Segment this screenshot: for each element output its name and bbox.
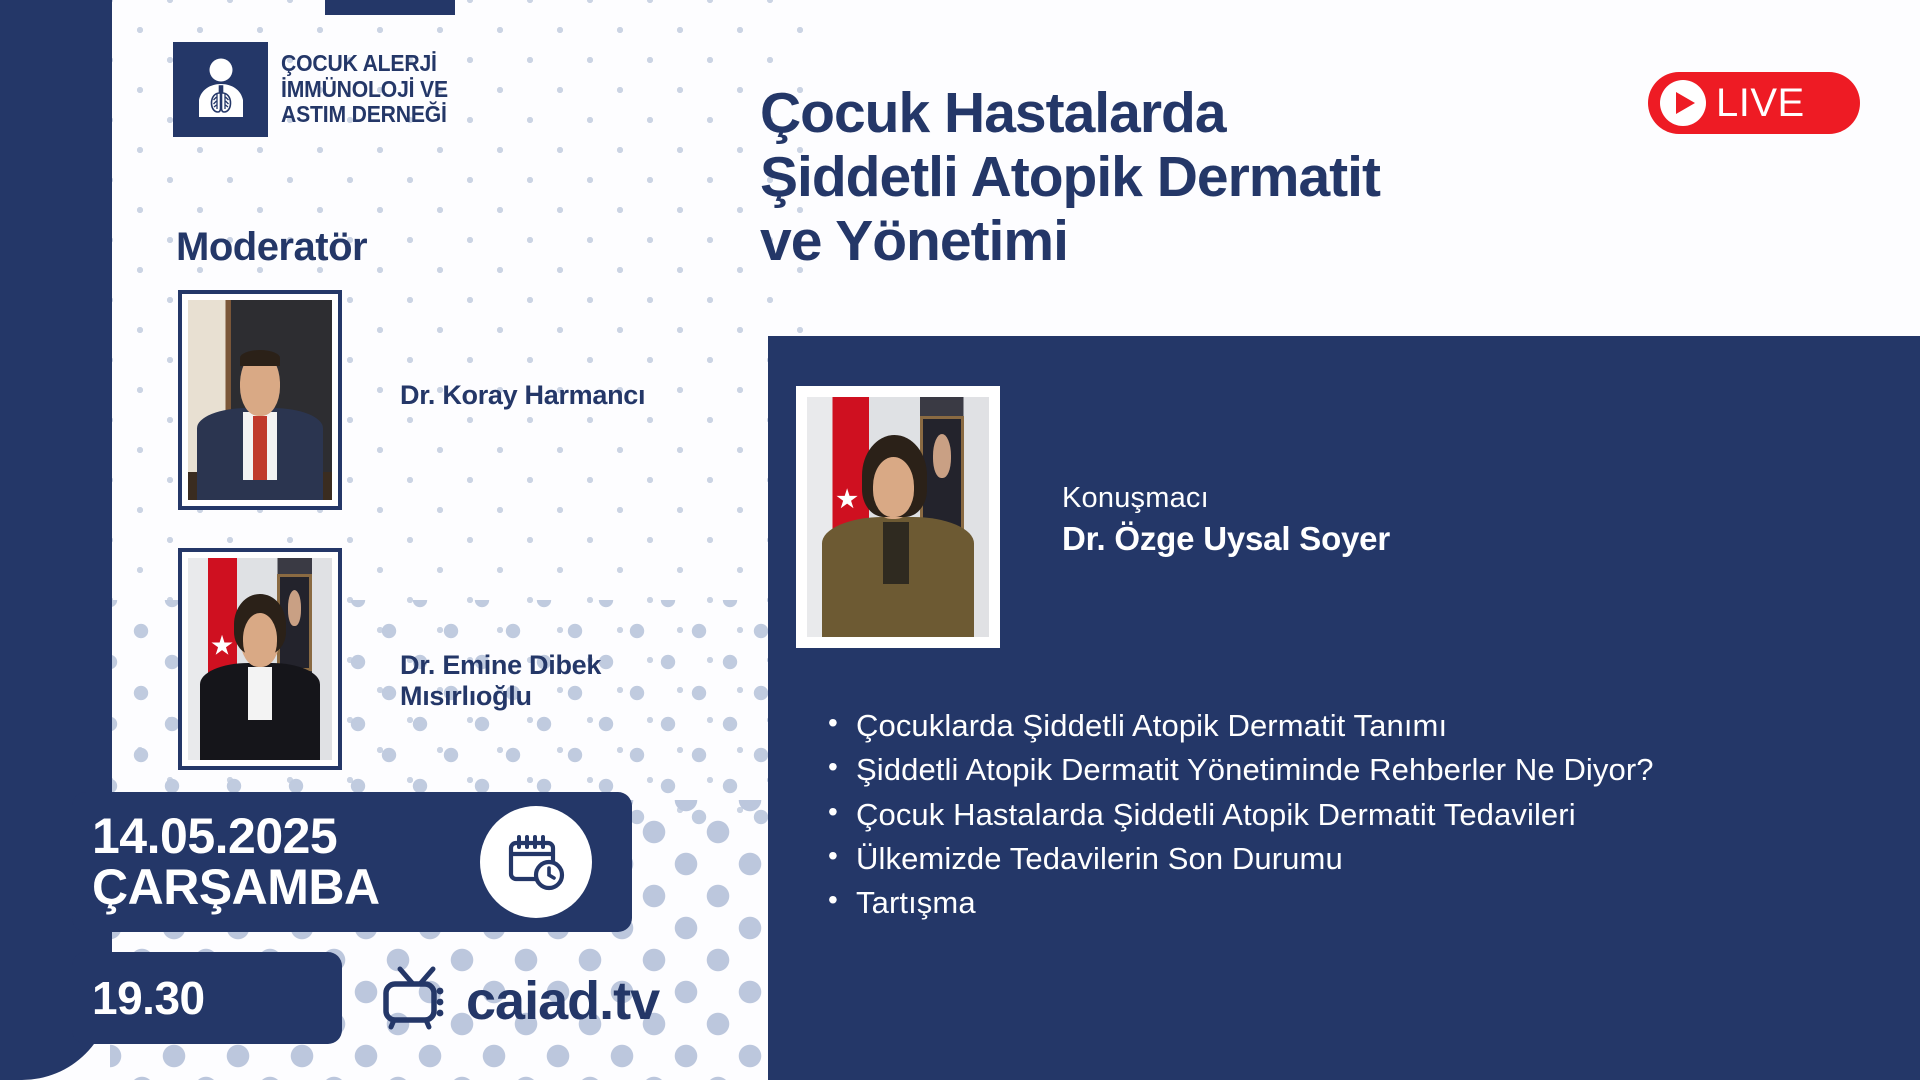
organization-name: ÇOCUK ALERJİ İMMÜNOLOJİ VE ASTIM DERNEĞİ [281, 51, 448, 128]
speaker-role-label: Konuşmacı [1062, 482, 1209, 515]
calendar-clock-icon [480, 806, 592, 918]
person-lungs-icon [173, 42, 268, 137]
moderator-photo-1 [178, 290, 342, 510]
event-time: 19.30 [92, 971, 205, 1025]
moderator-section-label: Moderatör [176, 225, 367, 270]
time-badge: 19.30 [72, 952, 342, 1044]
webinar-poster: ÇOCUK ALERJİ İMMÜNOLOJİ VE ASTIM DERNEĞİ… [0, 0, 1920, 1080]
page-title: Çocuk Hastalarda Şiddetli Atopik Dermati… [760, 82, 1640, 273]
organization-logo: ÇOCUK ALERJİ İMMÜNOLOJİ VE ASTIM DERNEĞİ [173, 42, 462, 137]
top-navy-tab [325, 0, 455, 15]
speaker-photo [796, 386, 1000, 648]
event-date: 14.05.2025 ÇARŞAMBA [92, 811, 380, 913]
tv-icon [380, 965, 454, 1036]
channel-name: caiad.tv [466, 970, 659, 1032]
list-item: Ülkemizde Tedavilerin Son Durumu [856, 839, 1896, 879]
channel-row[interactable]: caiad.tv [380, 965, 659, 1036]
list-item: Çocuk Hastalarda Şiddetli Atopik Dermati… [856, 795, 1896, 835]
moderator-photo-2 [178, 548, 342, 770]
speaker-name: Dr. Özge Uysal Soyer [1062, 520, 1390, 558]
left-navy-bar-top [0, 0, 112, 38]
list-item: Tartışma [856, 883, 1896, 923]
list-item: Şiddetli Atopik Dermatit Yönetiminde Reh… [856, 750, 1896, 790]
live-badge[interactable]: LIVE [1648, 72, 1860, 134]
moderator-name-1: Dr. Koray Harmancı [400, 380, 720, 411]
moderator-name-2: Dr. Emine Dibek Mısırlıoğlu [400, 650, 720, 712]
topics-list: Çocuklarda Şiddetli Atopik Dermatit Tanı… [820, 706, 1896, 927]
list-item: Çocuklarda Şiddetli Atopik Dermatit Tanı… [856, 706, 1896, 746]
live-label: LIVE [1716, 81, 1805, 126]
play-icon [1660, 80, 1706, 126]
